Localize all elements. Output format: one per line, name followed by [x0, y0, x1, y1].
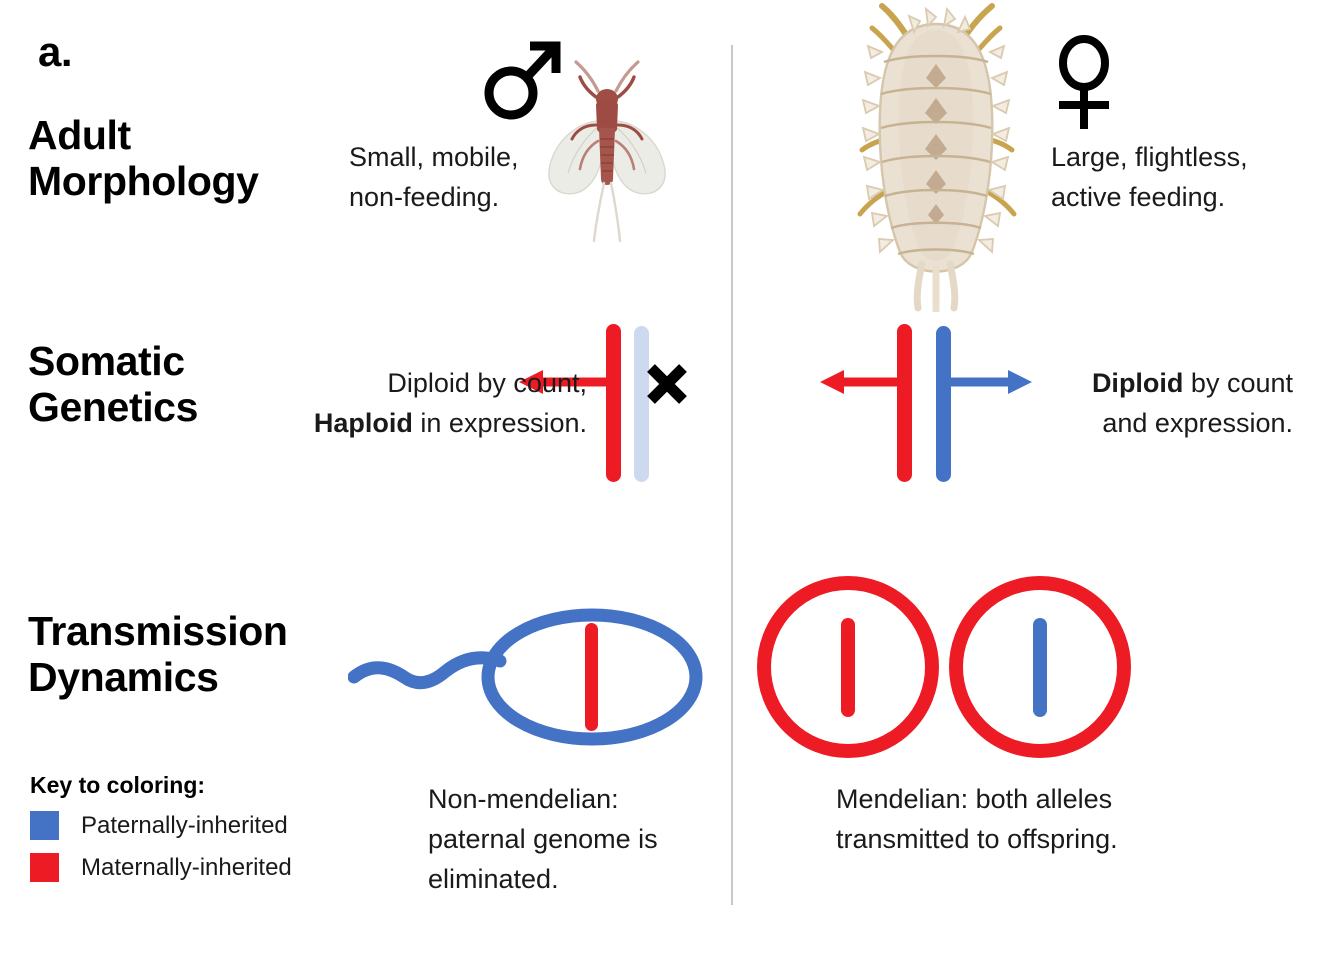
- key-item-paternal: Paternally-inherited: [30, 811, 292, 840]
- panel-letter: a.: [38, 28, 72, 76]
- female-symbol-icon: [1049, 35, 1119, 133]
- paternal-chromosome-bar: [936, 326, 951, 482]
- male-morphology-description: Small, mobile, non-feeding.: [349, 138, 554, 218]
- male-genetics-line2: in expression.: [413, 408, 587, 438]
- wingless-adult-female-mealybug-illustration: [838, 2, 1038, 312]
- row-label-line: Transmission: [28, 608, 288, 654]
- maternal-chromosome-bar: [841, 618, 855, 717]
- male-genetics-description: Diploid by count, Haploid in expression.: [282, 364, 587, 444]
- row-label-line: Adult: [28, 112, 259, 158]
- key-item-label: Paternally-inherited: [81, 812, 288, 840]
- paternal-chromosome-bar-silenced: [634, 326, 649, 482]
- key-title: Key to coloring:: [30, 772, 292, 799]
- key-item-label: Maternally-inherited: [81, 854, 292, 882]
- female-genetics-line1: by count: [1183, 368, 1293, 398]
- row-label-adult-morphology: Adult Morphology: [28, 112, 259, 205]
- key-item-maternal: Maternally-inherited: [30, 853, 292, 882]
- winged-adult-male-mealybug-illustration: [536, 57, 678, 247]
- paternal-color-swatch: [30, 811, 59, 840]
- row-label-line: Dynamics: [28, 654, 288, 700]
- row-label-line: Morphology: [28, 158, 259, 204]
- figure-panel-a: a. Adult Morphology Somatic Genetics Tra…: [0, 0, 1339, 956]
- row-label-line: Genetics: [28, 384, 198, 430]
- egg-cell-paternal: [956, 583, 1124, 751]
- row-label-somatic-genetics: Somatic Genetics: [28, 338, 198, 431]
- female-genetics-description: Diploid by count and expression.: [1048, 364, 1293, 444]
- female-genetics-line2: and expression.: [1102, 408, 1293, 438]
- egg-cell-maternal: [764, 583, 932, 751]
- row-label-transmission-dynamics: Transmission Dynamics: [28, 608, 288, 701]
- paternal-chromosome-bar: [1033, 618, 1047, 717]
- two-egg-cells-icon: [752, 570, 1152, 770]
- male-genetics-line1: Diploid by count,: [387, 368, 587, 398]
- female-transmission-caption: Mendelian: both alleles transmitted to o…: [836, 780, 1186, 860]
- maternal-color-swatch: [30, 853, 59, 882]
- x-cross-icon: [651, 368, 683, 400]
- maternal-chromosome-bar: [606, 324, 621, 482]
- maternal-expression-arrow: [820, 370, 904, 394]
- color-key-legend: Key to coloring: Paternally-inherited Ma…: [30, 772, 292, 895]
- paternal-expression-arrow: [944, 370, 1032, 394]
- male-transmission-caption: Non-mendelian: paternal genome is elimin…: [428, 780, 708, 900]
- female-chromosome-diagram: [812, 320, 1042, 490]
- female-morphology-description: Large, flightless, active feeding.: [1051, 138, 1281, 218]
- maternal-chromosome-bar: [585, 623, 598, 731]
- maternal-chromosome-bar: [897, 324, 912, 482]
- vertical-divider: [731, 45, 733, 905]
- row-label-line: Somatic: [28, 338, 198, 384]
- sperm-cell-icon: [348, 605, 708, 765]
- male-genetics-emphasis: Haploid: [314, 408, 413, 438]
- female-genetics-emphasis: Diploid: [1092, 368, 1183, 398]
